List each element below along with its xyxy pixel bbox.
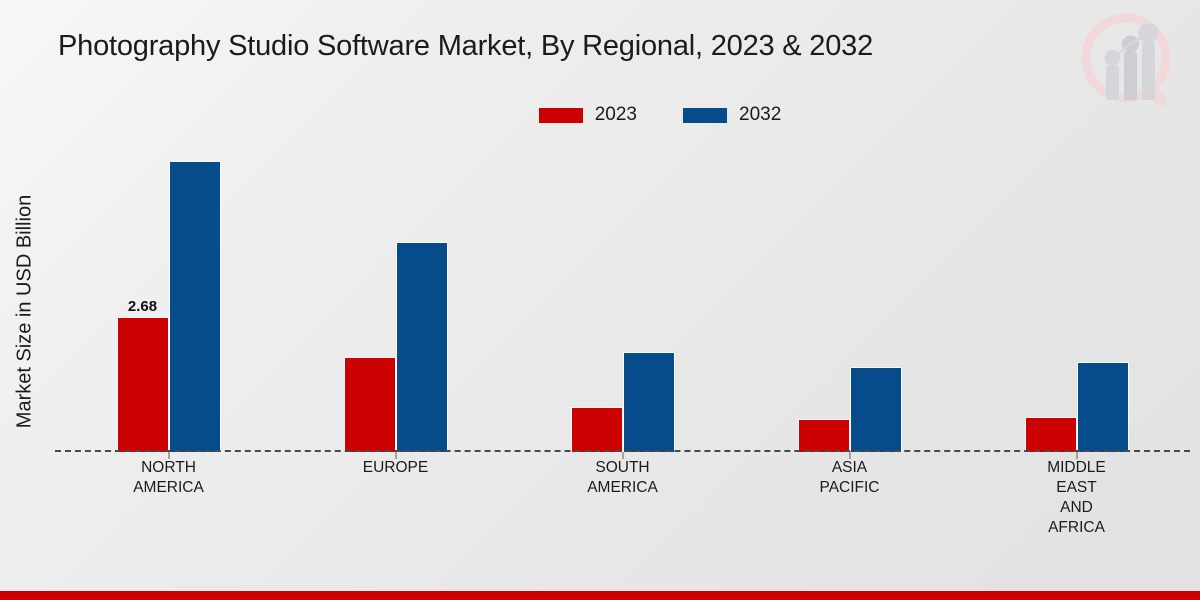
x-axis-baseline: [55, 450, 1190, 452]
bar-group: [736, 140, 963, 452]
y-axis-title: Market Size in USD Billion: [14, 152, 37, 472]
bar-group: [963, 140, 1190, 452]
bar-2032-middle-east-and-africa[interactable]: [1077, 362, 1129, 452]
bar-2023-north-america[interactable]: 2.68: [117, 317, 169, 452]
bar-group: [509, 140, 736, 452]
legend-item-2032[interactable]: 2032: [683, 104, 781, 126]
bottom-accent-bar: [0, 591, 1200, 600]
chart-legend: 2023 2032: [0, 104, 1200, 126]
legend-item-2023[interactable]: 2023: [539, 104, 637, 126]
x-axis-label-asia-pacific: ASIAPACIFIC: [736, 458, 963, 538]
legend-label-2032: 2032: [739, 104, 781, 126]
legend-swatch-2032: [683, 108, 727, 123]
bar-groups: 2.68: [55, 140, 1190, 452]
bar-2023-asia-pacific[interactable]: [798, 419, 850, 452]
bar-2032-north-america[interactable]: [169, 161, 221, 452]
bar-2023-middle-east-and-africa[interactable]: [1025, 417, 1077, 452]
bar-2032-south-america[interactable]: [623, 352, 675, 452]
plot-area: 2.68: [55, 140, 1190, 452]
market-research-logo-watermark-icon: [1074, 8, 1182, 116]
x-axis-labels: NORTHAMERICAEUROPESOUTHAMERICAASIAPACIFI…: [55, 458, 1190, 538]
bar-2023-europe[interactable]: [344, 357, 396, 452]
bar-2032-europe[interactable]: [396, 242, 448, 452]
bar-2023-south-america[interactable]: [571, 407, 623, 452]
x-axis-label-europe: EUROPE: [282, 458, 509, 538]
bar-group: 2.68: [55, 140, 282, 452]
chart-title: Photography Studio Software Market, By R…: [58, 30, 873, 63]
legend-label-2023: 2023: [595, 104, 637, 126]
bar-2032-asia-pacific[interactable]: [850, 367, 902, 452]
bar-value-label: 2.68: [128, 298, 157, 315]
x-axis-label-north-america: NORTHAMERICA: [55, 458, 282, 538]
legend-swatch-2023: [539, 108, 583, 123]
bar-group: [282, 140, 509, 452]
x-axis-label-south-america: SOUTHAMERICA: [509, 458, 736, 538]
x-axis-label-middle-east-and-africa: MIDDLEEASTANDAFRICA: [963, 458, 1190, 538]
chart-figure: Photography Studio Software Market, By R…: [0, 0, 1200, 600]
